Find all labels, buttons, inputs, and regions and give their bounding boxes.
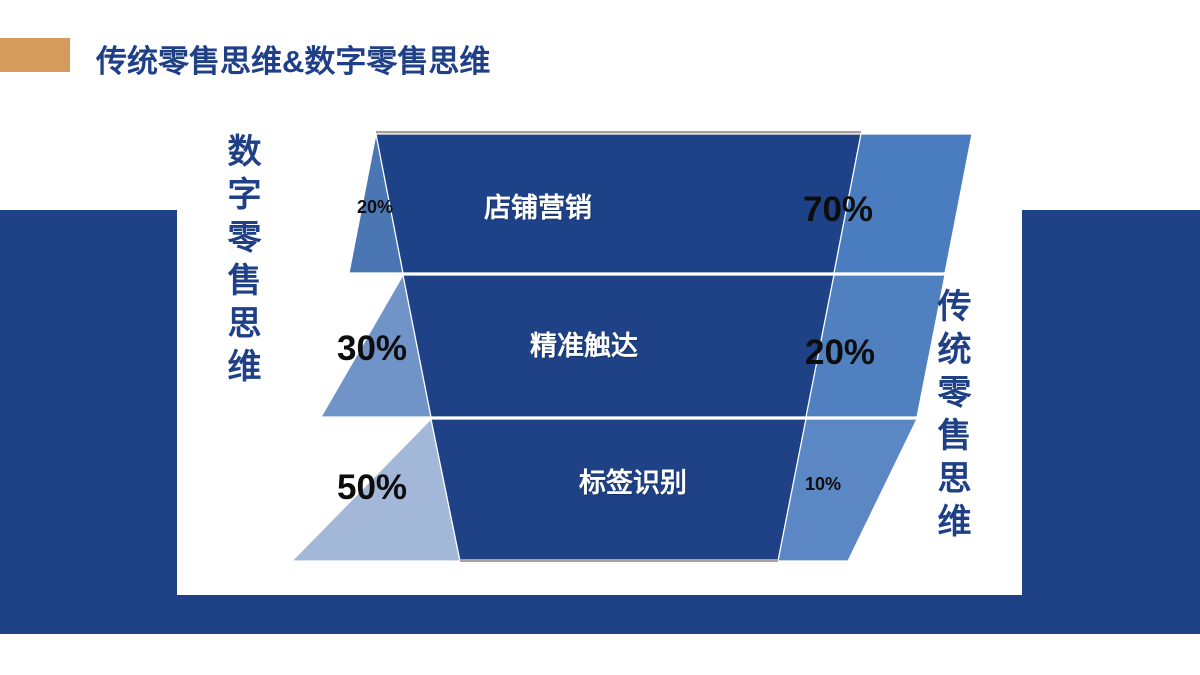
center-category-row3: 标签识别 [579, 470, 687, 497]
right-value-row3: 10% [805, 475, 841, 493]
page-title: 传统零售思维&数字零售思维 [96, 36, 490, 81]
right-value-row2: 20% [805, 335, 875, 370]
left-value-row2: 30% [337, 331, 407, 366]
center-category-row2: 精准触达 [530, 333, 638, 360]
frame-block-right [1022, 210, 1200, 634]
title-accent-block [0, 38, 70, 72]
diagram-bottom-rule [460, 559, 778, 562]
frame-block-bottom [0, 595, 1200, 634]
left-axis-label: 数字零售思维 [224, 133, 258, 391]
left-value-row3: 50% [337, 470, 407, 505]
slide-canvas: 传统零售思维&数字零售思维 数字零售思维 传统零售思维 20% 30% 50% … [0, 0, 1200, 675]
left-value-row1: 20% [357, 198, 393, 216]
center-category-row1: 店铺营销 [484, 195, 592, 222]
right-axis-label: 传统零售思维 [934, 288, 968, 546]
right-value-row1: 70% [803, 192, 873, 227]
frame-block-left [0, 210, 177, 634]
center-band-top [376, 134, 861, 273]
